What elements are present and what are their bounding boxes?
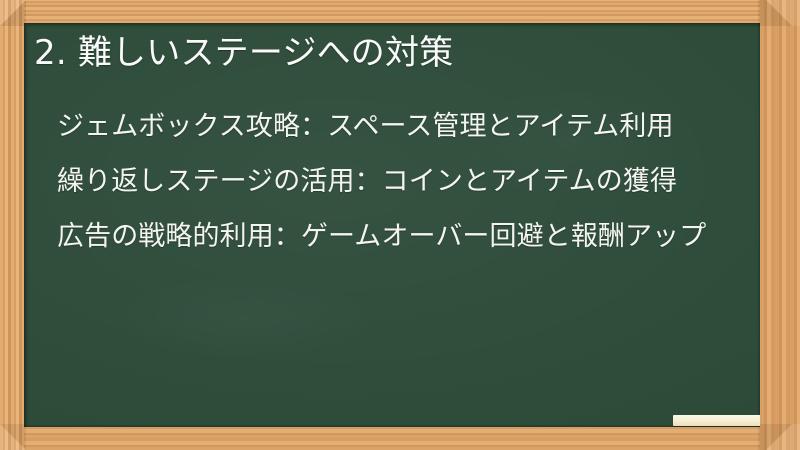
frame-corner-top-right — [758, 0, 800, 26]
frame-corner-bottom-right — [758, 424, 800, 450]
frame-corner-top-left — [0, 0, 26, 26]
frame-right-stile — [760, 0, 800, 450]
chalk-stick-icon — [673, 415, 760, 426]
chalkboard-slide: 2. 難しいステージへの対策 ジェムボックス攻略：スペース管理とアイテム利用 繰… — [0, 0, 800, 450]
bullet-item: 繰り返しステージの活用：コインとアイテムの獲得 — [57, 163, 747, 201]
frame-corner-bottom-left — [0, 424, 26, 450]
bullet-list: ジェムボックス攻略：スペース管理とアイテム利用 繰り返しステージの活用：コインと… — [57, 108, 747, 256]
chalkboard-surface: 2. 難しいステージへの対策 ジェムボックス攻略：スペース管理とアイテム利用 繰… — [24, 23, 760, 427]
frame-bottom-rail — [0, 426, 800, 450]
chalk-smudge — [104, 273, 384, 363]
slide-title: 2. 難しいステージへの対策 — [34, 31, 748, 75]
bullet-item: 広告の戦略的利用：ゲームオーバー回避と報酬アップ — [57, 218, 747, 256]
bullet-item: ジェムボックス攻略：スペース管理とアイテム利用 — [57, 108, 747, 146]
frame-left-stile — [0, 0, 24, 450]
frame-top-rail — [0, 0, 800, 23]
